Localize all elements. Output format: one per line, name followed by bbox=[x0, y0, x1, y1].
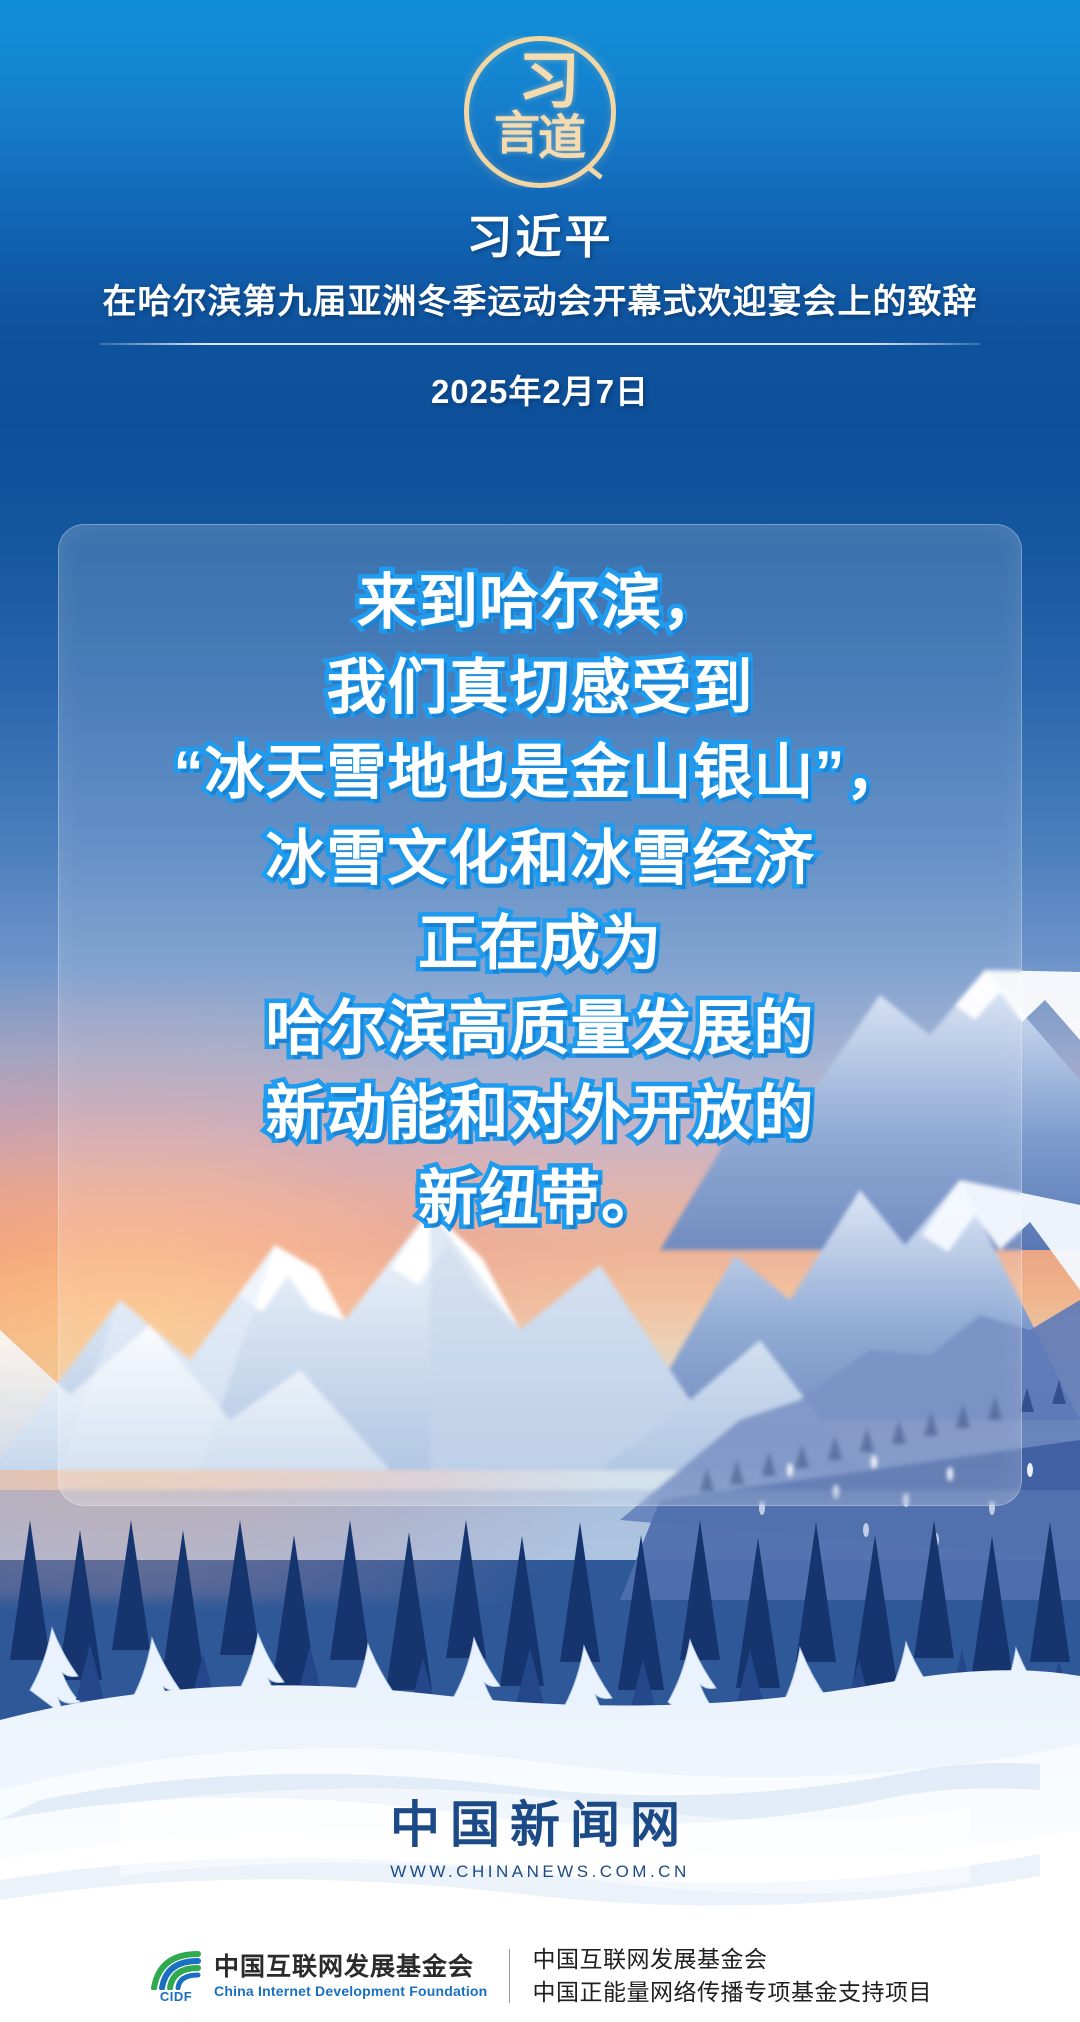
cidf-name-en: China Internet Development Foundation bbox=[214, 1983, 487, 2001]
chinanews-url: WWW.CHINANEWS.COM.CN bbox=[0, 1862, 1080, 1882]
footer-bar: CIDF 中国互联网发展基金会 China Internet Developme… bbox=[0, 1930, 1080, 2022]
quote-line: “冰天雪地也是金山银山”， bbox=[58, 730, 1022, 815]
cidf-arcs-icon: CIDF bbox=[148, 1950, 204, 2002]
quote-line: 哈尔滨高质量发展的 bbox=[58, 986, 1022, 1071]
cidf-abbr: CIDF bbox=[148, 1989, 204, 2004]
poster-root: 习 言 道 习近平 在哈尔滨第九届亚洲冬季运动会开幕式欢迎宴会上的致辞 2025… bbox=[0, 0, 1080, 2022]
footer-support-line-2: 中国正能量网络传播专项基金支持项目 bbox=[532, 1976, 932, 2009]
xi-yan-dao-seal-logo: 习 言 道 bbox=[0, 36, 1080, 188]
footer-divider bbox=[509, 1949, 510, 2003]
quote-line: 冰雪文化和冰雪经济 bbox=[58, 816, 1022, 901]
seal-glyph-dao: 道 bbox=[538, 114, 586, 162]
chinanews-logo-text: 中国新闻网 bbox=[0, 1800, 1080, 1850]
footer-support-line-1: 中国互联网发展基金会 bbox=[532, 1943, 932, 1976]
header-divider bbox=[100, 343, 980, 345]
chinanews-brand: 中国新闻网 WWW.CHINANEWS.COM.CN bbox=[0, 1800, 1080, 1882]
speech-subtitle: 在哈尔滨第九届亚洲冬季运动会开幕式欢迎宴会上的致辞 bbox=[0, 282, 1080, 323]
speech-date: 2025年2月7日 bbox=[0, 365, 1080, 413]
seal-glyph-yan: 言 bbox=[494, 110, 540, 156]
quote-line: 新纽带。 bbox=[58, 1156, 1022, 1241]
quote-line: 我们真切感受到 bbox=[58, 645, 1022, 730]
quote-text-block: 来到哈尔滨， 我们真切感受到 “冰天雪地也是金山银山”， 冰雪文化和冰雪经济 正… bbox=[58, 560, 1022, 1242]
seal-glyph-xi: 习 bbox=[518, 50, 580, 112]
cidf-name-cn: 中国互联网发展基金会 bbox=[214, 1952, 487, 1983]
quote-line: 正在成为 bbox=[58, 901, 1022, 986]
cidf-logo: CIDF 中国互联网发展基金会 China Internet Developme… bbox=[148, 1950, 487, 2002]
poster-header: 习近平 在哈尔滨第九届亚洲冬季运动会开幕式欢迎宴会上的致辞 2025年2月7日 bbox=[0, 214, 1080, 413]
quote-line: 来到哈尔滨， bbox=[58, 560, 1022, 645]
quote-line: 新动能和对外开放的 bbox=[58, 1071, 1022, 1156]
speaker-name: 习近平 bbox=[0, 214, 1080, 260]
